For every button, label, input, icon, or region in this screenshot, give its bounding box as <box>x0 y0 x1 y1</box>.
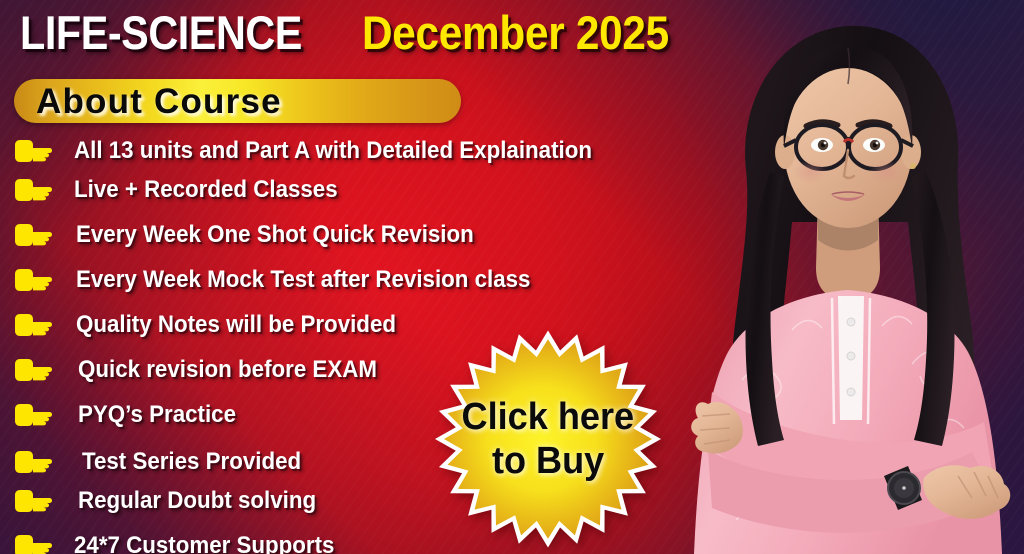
feature-label: Quick revision before EXAM <box>78 356 377 384</box>
course-batch-date: December 2025 <box>362 5 669 60</box>
pointing-hand-icon <box>0 267 62 293</box>
feature-label: Live + Recorded Classes <box>74 176 338 204</box>
feature-item: All 13 units and Part A with Detailed Ex… <box>0 131 660 170</box>
pointing-hand-icon <box>0 533 62 554</box>
feature-item: Every Week Mock Test after Revision clas… <box>0 260 660 299</box>
feature-item: Every Week One Shot Quick Revision <box>0 215 660 254</box>
feature-label: Regular Doubt solving <box>78 487 316 515</box>
feature-label: Every Week One Shot Quick Revision <box>76 221 474 249</box>
eye-highlight-right <box>876 142 879 145</box>
starburst-fill <box>444 339 652 539</box>
pointing-hand-icon <box>0 312 62 338</box>
instructor-photo <box>672 0 1024 554</box>
feature-item: Live + Recorded Classes <box>0 170 660 209</box>
cheek-left <box>793 160 827 184</box>
feature-label: 24*7 Customer Supports <box>74 532 334 554</box>
pointing-hand-icon <box>0 357 62 383</box>
pointing-hand-icon <box>0 402 62 428</box>
starburst-shape <box>432 328 664 550</box>
promo-banner: LIFE-SCIENCE December 2025 About Course … <box>0 0 1024 554</box>
pointing-hand-icon <box>0 449 62 475</box>
feature-label: PYQ’s Practice <box>78 401 236 429</box>
click-here-to-buy-button[interactable]: Click here to Buy <box>432 328 664 550</box>
earring <box>910 163 916 169</box>
pointing-hand-icon <box>0 177 62 203</box>
feature-label: All 13 units and Part A with Detailed Ex… <box>74 137 592 165</box>
eye-highlight-left <box>824 142 827 145</box>
pointing-hand-icon <box>0 488 62 514</box>
instructor-illustration <box>672 0 1024 554</box>
pointing-hand-icon <box>0 222 62 248</box>
about-course-label: About Course <box>36 82 282 122</box>
feature-label: Test Series Provided <box>82 448 301 476</box>
headline: LIFE-SCIENCE December 2025 <box>20 5 703 60</box>
cheek-right <box>869 160 903 184</box>
pointing-hand-icon <box>0 138 62 164</box>
feature-label: Quality Notes will be Provided <box>76 311 396 339</box>
course-subject-title: LIFE-SCIENCE <box>20 5 302 60</box>
feature-label: Every Week Mock Test after Revision clas… <box>76 266 530 294</box>
